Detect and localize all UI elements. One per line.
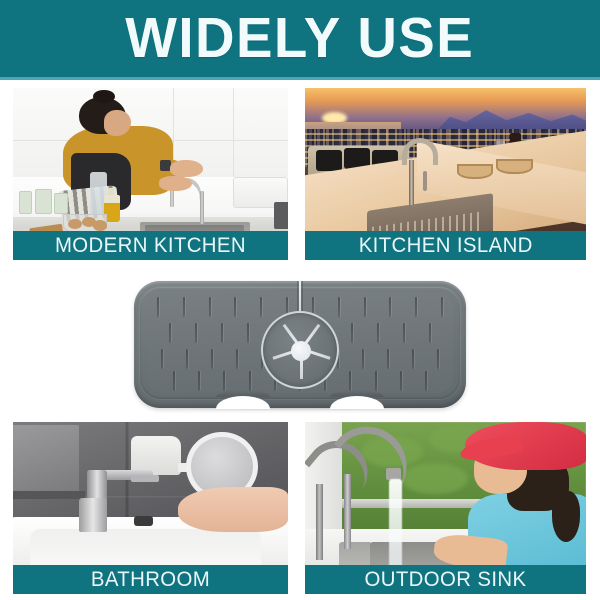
use-case-card-bathroom[interactable]: BATHROOM [13, 422, 288, 594]
use-case-card-modern-kitchen[interactable]: MODERN KITCHEN [13, 88, 288, 260]
page-title: WIDELY USE [126, 10, 475, 67]
mat-body [134, 281, 466, 408]
caption-label: BATHROOM [91, 568, 210, 592]
caption-label: KITCHEN ISLAND [358, 234, 532, 258]
caption-label: OUTDOOR SINK [365, 568, 527, 592]
cutout-hub [291, 341, 311, 361]
caption-bar-outdoor-sink: OUTDOOR SINK [305, 565, 586, 594]
wall-mirror [13, 425, 79, 494]
use-case-card-outdoor-sink[interactable]: OUTDOOR SINK [305, 422, 586, 594]
header-banner: WIDELY USE [0, 0, 600, 77]
caption-label: MODERN KITCHEN [55, 234, 246, 258]
header-underline [0, 77, 600, 80]
product-faucet-mat[interactable] [134, 281, 466, 413]
running-water [389, 479, 402, 579]
use-case-card-kitchen-island[interactable]: KITCHEN ISLAND [305, 88, 586, 260]
hand [178, 487, 288, 532]
caption-bar-bathroom: BATHROOM [13, 565, 288, 594]
caption-bar-kitchen-island: KITCHEN ISLAND [305, 231, 586, 260]
caption-bar-modern-kitchen: MODERN KITCHEN [13, 231, 288, 260]
